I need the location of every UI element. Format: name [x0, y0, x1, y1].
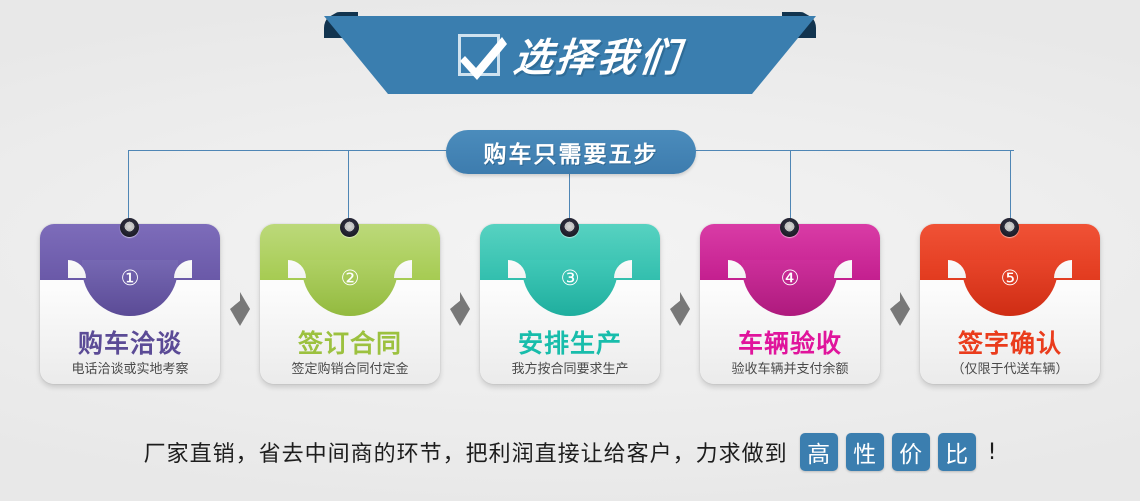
arrow-right-icon	[670, 292, 690, 326]
step-card-4[interactable]: ④ 车辆验收 验收车辆并支付余额	[700, 224, 880, 384]
checkbox-checked-icon	[458, 34, 500, 76]
step-title: 签字确认	[920, 324, 1100, 360]
connector-tree: 购车只需要五步	[0, 120, 1140, 230]
footer-caption: 厂家直销，省去中间商的环节，把利润直接让给客户，力求做到 高 性 价 比 !	[0, 424, 1140, 480]
value-tile: 性	[846, 433, 884, 471]
connector-line-right	[694, 150, 1014, 151]
grommet-icon-4	[780, 218, 799, 237]
step-card-2[interactable]: ② 签订合同 签定购销合同付定金	[260, 224, 440, 384]
step-card-1[interactable]: ① 购车洽谈 电话洽谈或实地考察	[40, 224, 220, 384]
value-tile: 比	[938, 433, 976, 471]
page-title: 选择我们	[511, 27, 685, 83]
grommet-icon-1	[120, 218, 139, 237]
step-subtitle: 签定购销合同付定金	[260, 358, 440, 377]
arrow-right-icon	[450, 292, 470, 326]
ribbon-content: 选择我们	[324, 16, 816, 94]
step-number: ⑤	[920, 268, 1100, 289]
steps-pill-badge: 购车只需要五步	[446, 130, 696, 174]
step-card-3[interactable]: ③ 安排生产 我方按合同要求生产	[480, 224, 660, 384]
step-subtitle: 验收车辆并支付余额	[700, 358, 880, 377]
step-title: 安排生产	[480, 324, 660, 360]
grommet-icon-3	[560, 218, 579, 237]
value-tiles: 高 性 价 比	[800, 433, 976, 471]
footer-text: 厂家直销，省去中间商的环节，把利润直接让给客户，力求做到	[144, 436, 788, 468]
infographic-canvas: 选择我们 购车只需要五步 ① 购车洽谈 电话洽谈或实地考察	[0, 0, 1140, 501]
connector-line-left	[128, 150, 448, 151]
value-tile: 高	[800, 433, 838, 471]
steps-pill-label: 购车只需要五步	[484, 135, 659, 169]
step-title: 签订合同	[260, 324, 440, 360]
grommet-icon-2	[340, 218, 359, 237]
arrow-right-icon	[230, 292, 250, 326]
footer-exclamation: !	[988, 440, 997, 465]
step-subtitle: 电话洽谈或实地考察	[40, 358, 220, 377]
step-number: ③	[480, 268, 660, 289]
arrow-right-icon	[890, 292, 910, 326]
step-title: 车辆验收	[700, 324, 880, 360]
header-ribbon: 选择我们	[324, 0, 816, 104]
step-subtitle: （仅限于代送车辆）	[920, 358, 1100, 377]
step-subtitle: 我方按合同要求生产	[480, 358, 660, 377]
step-number: ②	[260, 268, 440, 289]
step-title: 购车洽谈	[40, 324, 220, 360]
step-number: ①	[40, 268, 220, 289]
step-card-5[interactable]: ⑤ 签字确认 （仅限于代送车辆）	[920, 224, 1100, 384]
step-number: ④	[700, 268, 880, 289]
value-tile: 价	[892, 433, 930, 471]
grommet-icon-5	[1000, 218, 1019, 237]
